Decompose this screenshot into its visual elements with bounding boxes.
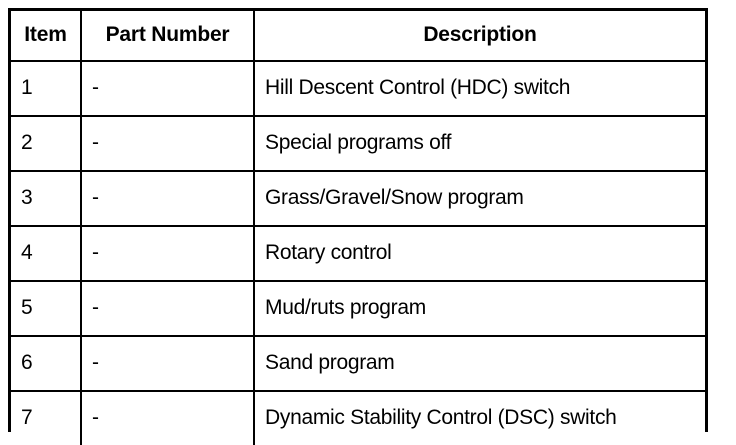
cell-item: 6 [11, 336, 81, 391]
table-header-row: Item Part Number Description [11, 11, 705, 61]
cell-item: 4 [11, 226, 81, 281]
cell-part-number: - [81, 61, 254, 116]
cell-description: Special programs off [254, 116, 705, 171]
cell-item: 5 [11, 281, 81, 336]
cell-description: Mud/ruts program [254, 281, 705, 336]
table-row: 2-Special programs off [11, 116, 705, 171]
table-row: 1-Hill Descent Control (HDC) switch [11, 61, 705, 116]
parts-table-container: Item Part Number Description 1-Hill Desc… [8, 8, 708, 432]
cell-item: 7 [11, 391, 81, 445]
table-header: Item Part Number Description [11, 11, 705, 61]
table-row: 4-Rotary control [11, 226, 705, 281]
cell-part-number: - [81, 226, 254, 281]
table-body: 1-Hill Descent Control (HDC) switch2-Spe… [11, 61, 705, 445]
table-row: 6-Sand program [11, 336, 705, 391]
cell-description: Sand program [254, 336, 705, 391]
column-header-part-number: Part Number [81, 11, 254, 61]
table-row: 5-Mud/ruts program [11, 281, 705, 336]
table-row: 7-Dynamic Stability Control (DSC) switch [11, 391, 705, 445]
cell-description: Grass/Gravel/Snow program [254, 171, 705, 226]
cell-part-number: - [81, 116, 254, 171]
cell-part-number: - [81, 171, 254, 226]
cell-description: Rotary control [254, 226, 705, 281]
cell-description: Hill Descent Control (HDC) switch [254, 61, 705, 116]
cell-description: Dynamic Stability Control (DSC) switch [254, 391, 705, 445]
parts-table: Item Part Number Description 1-Hill Desc… [11, 11, 705, 445]
column-header-item: Item [11, 11, 81, 61]
cell-item: 2 [11, 116, 81, 171]
table-row: 3-Grass/Gravel/Snow program [11, 171, 705, 226]
column-header-description: Description [254, 11, 705, 61]
cell-part-number: - [81, 336, 254, 391]
cell-item: 1 [11, 61, 81, 116]
cell-part-number: - [81, 281, 254, 336]
cell-part-number: - [81, 391, 254, 445]
page-root: Item Part Number Description 1-Hill Desc… [0, 0, 736, 440]
cell-item: 3 [11, 171, 81, 226]
